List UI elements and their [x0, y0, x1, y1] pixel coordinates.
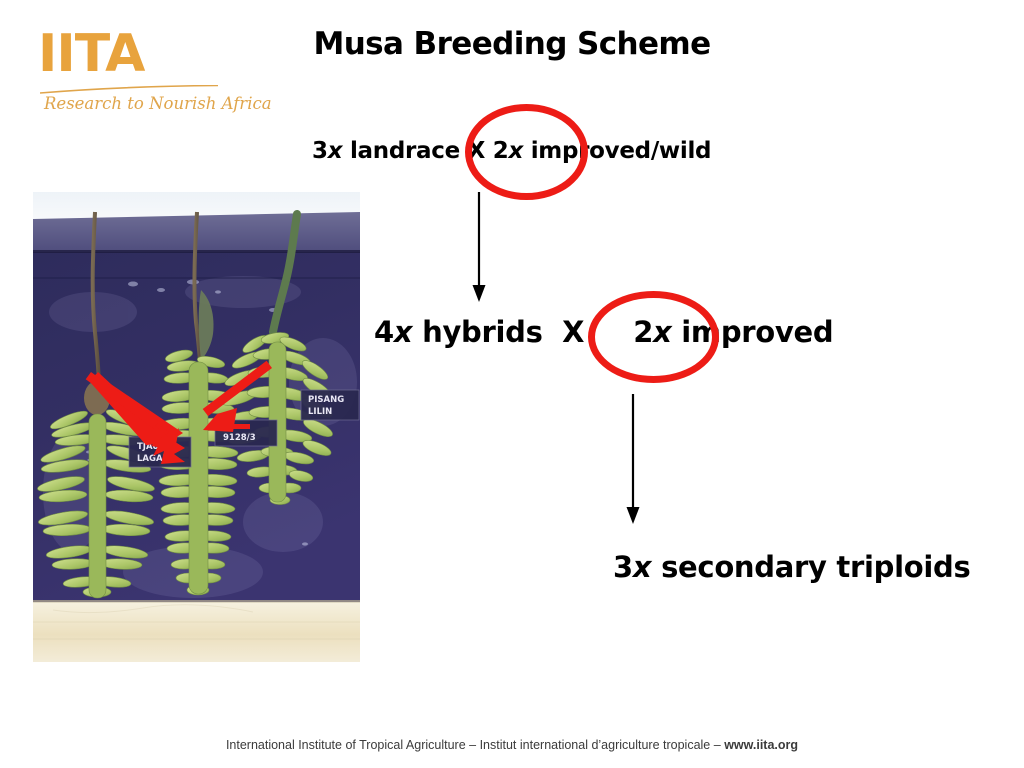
footer-institution-line: International Institute of Tropical Agri… — [0, 738, 1024, 752]
photo-artwork: TJAU LAGADA 9128/3 PISANG LILIN — [33, 192, 360, 662]
footer-url[interactable]: www.iita.org — [724, 738, 798, 752]
red-circle-2x-improved-wild — [465, 104, 588, 200]
line-3-ploidy-3: 3 — [613, 550, 633, 584]
footer-separator-1: – — [469, 738, 476, 752]
arrow-hybrids-to-triploids — [614, 394, 654, 526]
footer-separator-2: – — [714, 738, 721, 752]
line-1-ploidy-3: 3 — [312, 138, 328, 164]
svg-text:PISANG: PISANG — [308, 395, 344, 405]
footer-french-name: Institut international d’agriculture tro… — [480, 738, 711, 752]
footer-english-name: International Institute of Tropical Agri… — [226, 738, 466, 752]
svg-text:LILIN: LILIN — [308, 407, 332, 417]
line-2-italic-x-1: x — [394, 315, 412, 349]
scheme-line-secondary-triploids: 3x secondary triploids — [613, 553, 970, 582]
line-3-italic-x: x — [633, 550, 651, 584]
svg-text:9128/3: 9128/3 — [223, 433, 256, 443]
page-title: Musa Breeding Scheme — [0, 26, 1024, 62]
line-3-tail: secondary triploids — [651, 550, 970, 584]
red-circle-2x-improved — [588, 291, 719, 383]
banana-bunches-photo: TJAU LAGADA 9128/3 PISANG LILIN — [33, 192, 360, 662]
line-2-ploidy-4: 4 — [374, 315, 394, 349]
iita-tagline: Research to Nourish Africa — [44, 94, 272, 113]
label-pisang-lilin-plaque: PISANG LILIN — [301, 390, 359, 420]
line-1-italic-x-1: x — [328, 138, 343, 164]
arrow-landrace-to-hybrids — [460, 192, 500, 304]
